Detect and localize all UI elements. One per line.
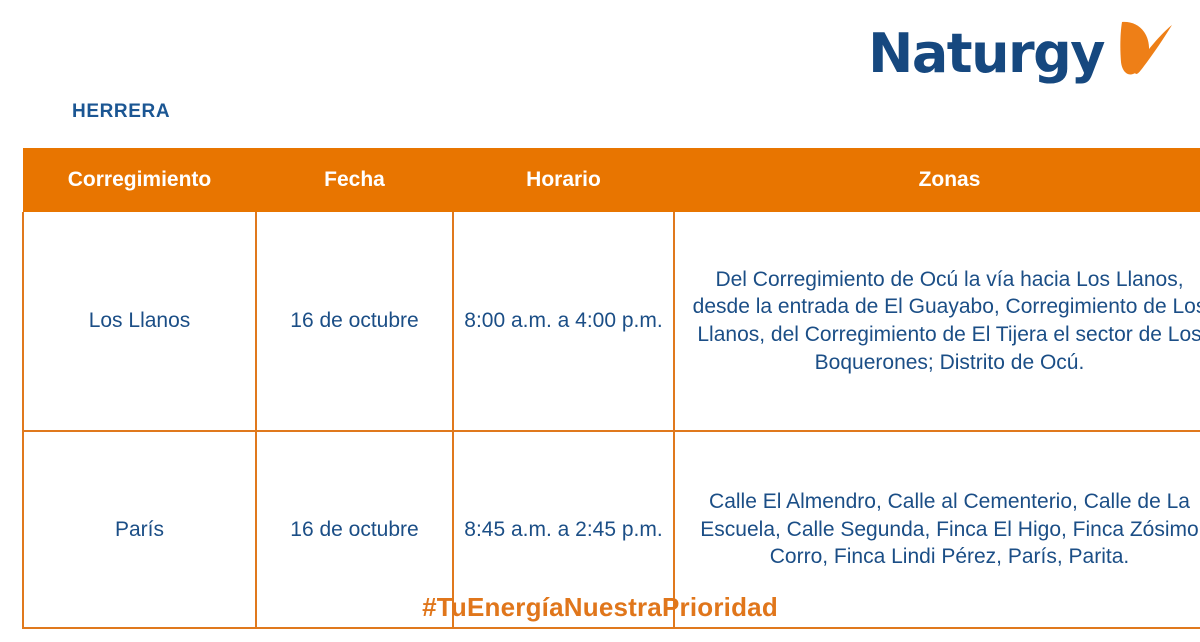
page-header: Naturgy HERRERA [0, 0, 1200, 148]
table-row: Los Llanos 16 de octubre 8:00 a.m. a 4:0… [23, 212, 1200, 431]
column-header-zonas: Zonas [674, 148, 1200, 212]
column-header-fecha: Fecha [256, 148, 453, 212]
cell-zonas: Del Corregimiento de Ocú la vía hacia Lo… [674, 212, 1200, 431]
cell-fecha: 16 de octubre [256, 212, 453, 431]
column-header-corregimiento: Corregimiento [23, 148, 256, 212]
footer-hashtag: #TuEnergíaNuestraPrioridad [0, 592, 1200, 623]
cell-horario: 8:00 a.m. a 4:00 p.m. [453, 212, 674, 431]
naturgy-wordmark: Naturgy [868, 27, 1104, 81]
cell-corregimiento: Los Llanos [23, 212, 256, 431]
column-header-horario: Horario [453, 148, 674, 212]
outage-schedule-table: Corregimiento Fecha Horario Zonas Los Ll… [22, 148, 1176, 629]
naturgy-flame-icon [1108, 14, 1178, 82]
province-title: HERRERA [72, 101, 170, 123]
naturgy-logo: Naturgy [868, 26, 1178, 82]
table-header-row: Corregimiento Fecha Horario Zonas [23, 148, 1200, 212]
